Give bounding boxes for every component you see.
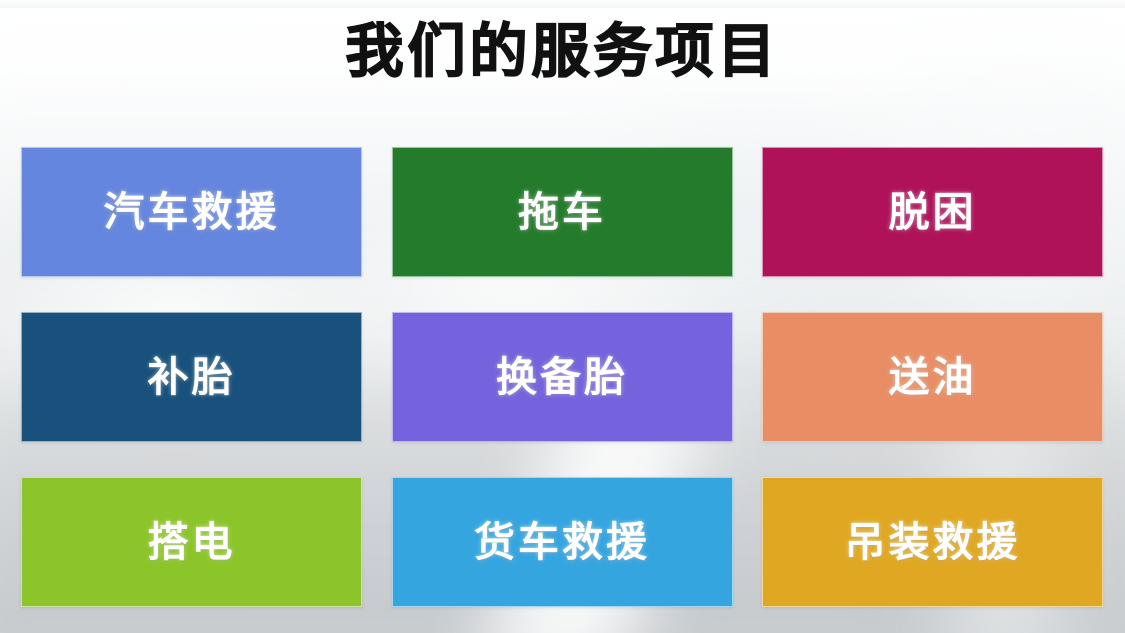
- service-tile-fuel-delivery[interactable]: 送油: [762, 312, 1103, 442]
- service-tile-tire-repair[interactable]: 补胎: [21, 312, 362, 442]
- service-tile-extrication[interactable]: 脱困: [762, 147, 1103, 277]
- page-title: 我们的服务项目: [0, 22, 1125, 83]
- service-tile-car-rescue[interactable]: 汽车救援: [21, 147, 362, 277]
- service-tile-label: 货车救援: [474, 522, 650, 563]
- service-tile-tow-truck[interactable]: 拖车: [392, 147, 733, 277]
- service-tile-grid: 汽车救援拖车脱困补胎换备胎送油搭电货车救援吊装救援: [21, 147, 1103, 607]
- service-tile-label: 拖车: [518, 192, 606, 233]
- service-tile-label: 补胎: [148, 357, 236, 398]
- service-tile-label: 送油: [889, 357, 977, 398]
- service-poster: 我们的服务项目 汽车救援拖车脱困补胎换备胎送油搭电货车救援吊装救援: [0, 0, 1125, 633]
- service-tile-spare-tire[interactable]: 换备胎: [392, 312, 733, 442]
- service-tile-label: 脱困: [889, 192, 977, 233]
- service-tile-label: 换备胎: [496, 357, 628, 398]
- service-tile-label: 汽车救援: [104, 192, 280, 233]
- service-tile-crane-rescue[interactable]: 吊装救援: [762, 477, 1103, 607]
- service-tile-label: 搭电: [148, 522, 236, 563]
- service-tile-truck-rescue[interactable]: 货车救援: [392, 477, 733, 607]
- service-tile-label: 吊装救援: [845, 522, 1021, 563]
- service-tile-jump-start[interactable]: 搭电: [21, 477, 362, 607]
